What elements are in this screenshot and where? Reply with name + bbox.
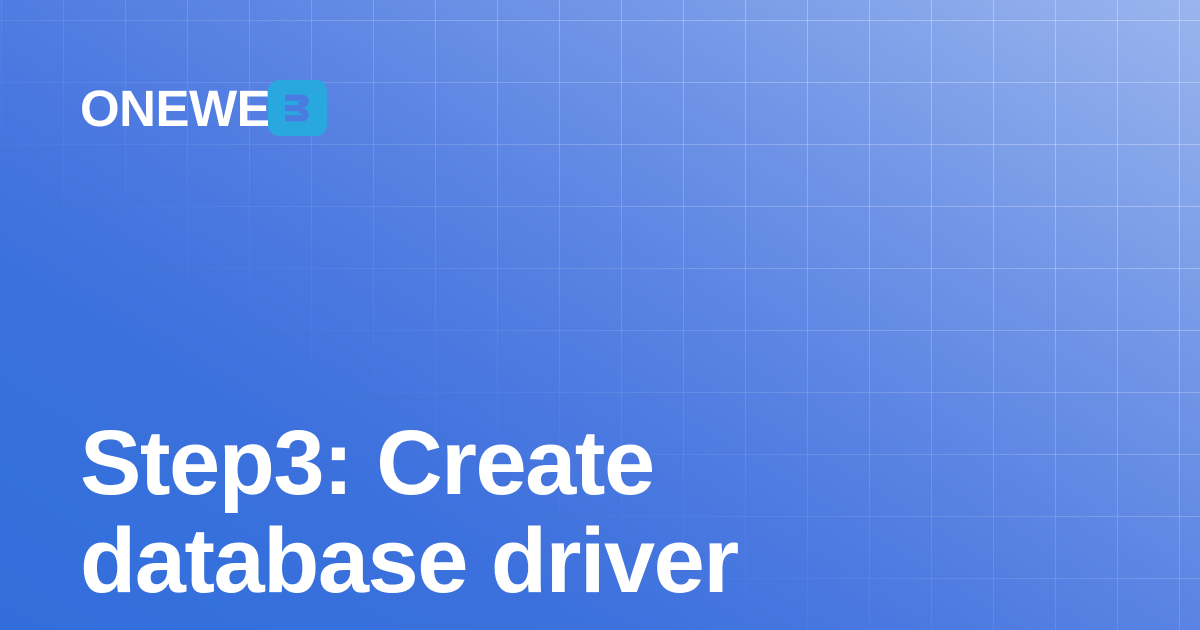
brand-logo[interactable]: ONEWE bbox=[80, 76, 327, 140]
page-title: Step3: Create database driver bbox=[80, 414, 980, 610]
page-title-line-1: Step3: Create bbox=[80, 414, 980, 512]
logo-b-badge-icon bbox=[268, 80, 327, 136]
social-share-card: ONEWE Step3: Create database driver bbox=[0, 0, 1200, 630]
page-title-line-2: database driver bbox=[80, 512, 980, 610]
logo-wordmark-text: ONEWE bbox=[80, 83, 270, 134]
